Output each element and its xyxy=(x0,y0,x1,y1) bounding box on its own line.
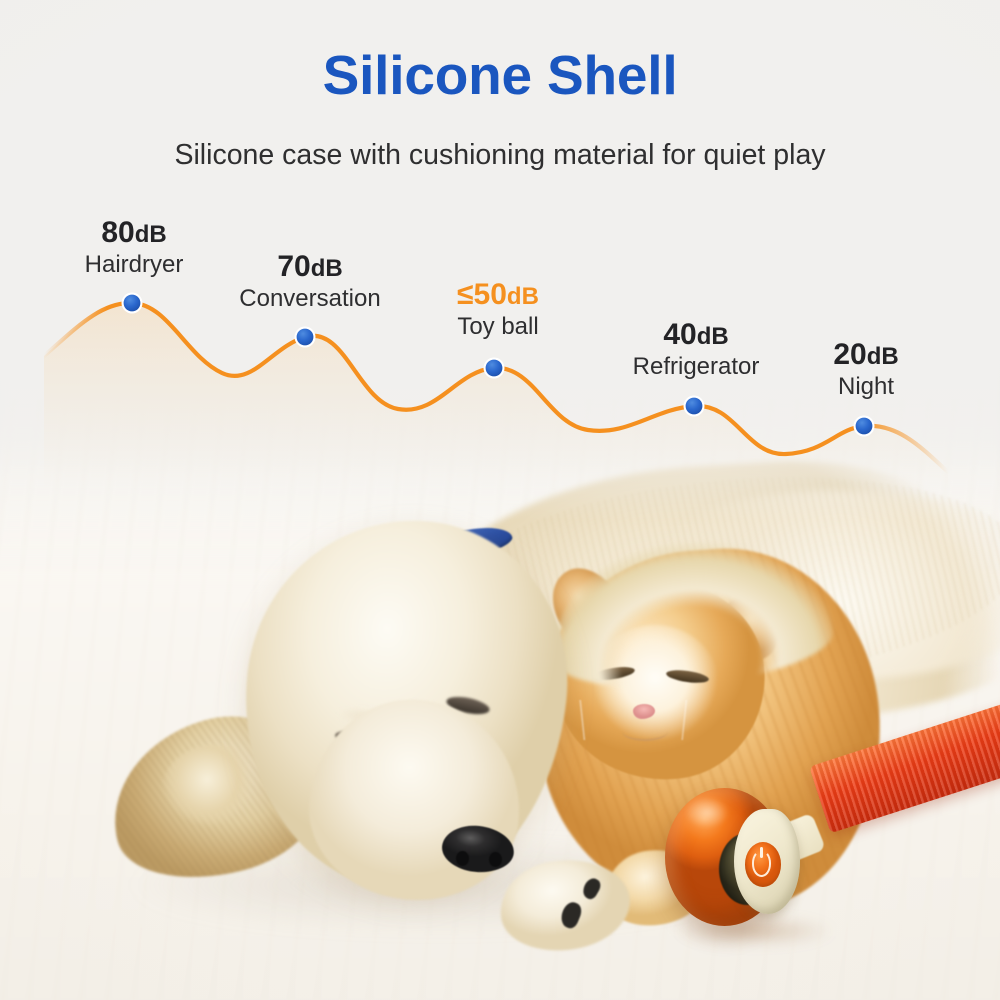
db-value-night: 20dB xyxy=(778,340,954,371)
promo-banner: Silicone Shell Silicone case with cushio… xyxy=(0,0,1000,1000)
db-label-hairdryer: 80dB Hairdryer xyxy=(34,218,234,280)
db-name-night: Night xyxy=(778,372,954,402)
db-label-conversation: 70dB Conversation xyxy=(206,252,414,314)
db-value-toy-ball: ≤50dB xyxy=(398,280,598,311)
page-subtitle: Silicone case with cushioning material f… xyxy=(0,138,1000,172)
data-point-night-dot xyxy=(856,418,873,435)
db-name-toy-ball: Toy ball xyxy=(398,312,598,342)
overlay-graphics: Silicone Shell Silicone case with cushio… xyxy=(0,0,1000,1000)
db-name-conversation: Conversation xyxy=(206,284,414,314)
data-point-conversation-dot xyxy=(297,329,314,346)
db-label-night: 20dB Night xyxy=(778,340,954,402)
db-name-hairdryer: Hairdryer xyxy=(34,250,234,280)
decibel-comparison-chart: 80dB Hairdryer 70dB Conversation ≤50dB T… xyxy=(0,190,1000,490)
db-value-conversation: 70dB xyxy=(206,252,414,283)
page-title: Silicone Shell xyxy=(0,46,1000,104)
db-value-refrigerator: 40dB xyxy=(586,320,806,351)
db-label-toy-ball: ≤50dB Toy ball xyxy=(398,280,598,342)
data-point-refrigerator-dot xyxy=(686,398,703,415)
db-name-refrigerator: Refrigerator xyxy=(586,352,806,382)
db-label-refrigerator: 40dB Refrigerator xyxy=(586,320,806,382)
db-value-hairdryer: 80dB xyxy=(34,218,234,249)
data-point-hairdryer-dot xyxy=(124,295,141,312)
data-point-toy-ball-dot xyxy=(486,360,503,377)
